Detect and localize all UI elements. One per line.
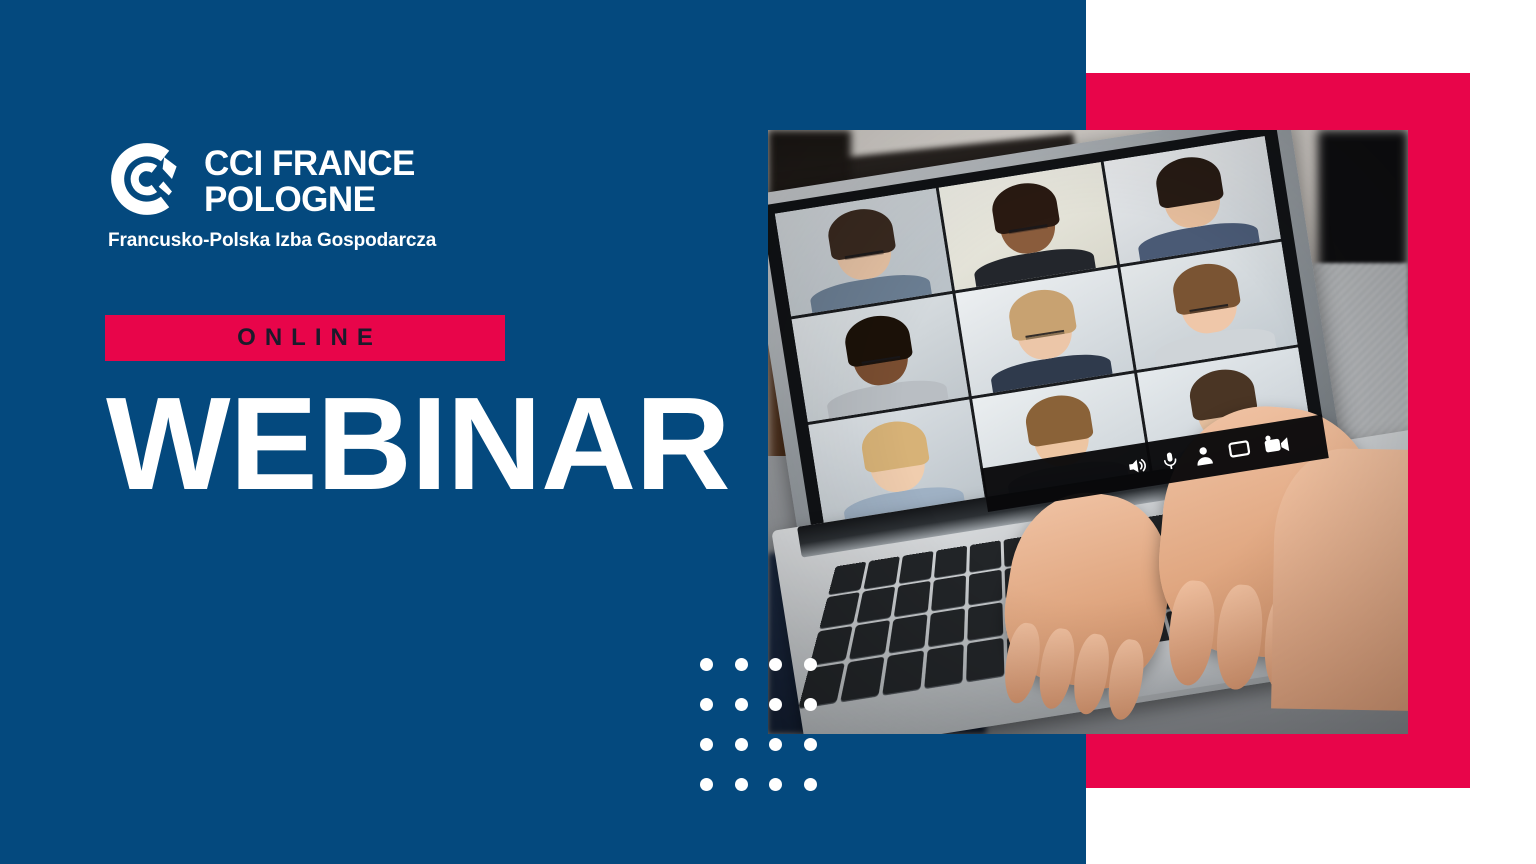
share-screen-monitor-icon[interactable] (1226, 438, 1253, 463)
keyboard-key (849, 620, 890, 660)
dot-cell (700, 738, 735, 778)
keyboard-key (966, 638, 1004, 681)
brand-name-line-2: POLOGNE (204, 182, 415, 218)
dot (804, 778, 817, 791)
dot (804, 738, 817, 751)
keyboard-key (968, 570, 1002, 605)
dot-cell (769, 778, 804, 818)
dot (804, 698, 817, 711)
dot (700, 738, 713, 751)
page-title: WEBINAR (106, 378, 730, 510)
dot-cell (804, 658, 839, 698)
dot-grid-pattern (700, 658, 838, 818)
cci-circular-mark-icon (108, 140, 186, 218)
keyboard-key (899, 551, 934, 583)
dot-cell (735, 698, 770, 738)
dot (735, 738, 748, 751)
brand-name-line-1: CCI FRANCE (204, 146, 415, 182)
dot (700, 698, 713, 711)
laptop (768, 130, 1408, 734)
photo-scene (768, 130, 1408, 734)
keyboard-key (856, 586, 895, 622)
speaker-volume-icon[interactable] (1124, 454, 1149, 479)
dot (769, 658, 782, 671)
dot-cell (700, 778, 735, 818)
dot (735, 698, 748, 711)
right-forearm (1270, 448, 1408, 712)
keyboard-key (924, 645, 964, 689)
dot-cell (735, 738, 770, 778)
dot (769, 738, 782, 751)
brand-logo: CCI FRANCE POLOGNE (108, 140, 415, 218)
keyboard-key (894, 581, 931, 616)
keyboard-key (969, 540, 1001, 572)
participant-person-icon[interactable] (1191, 443, 1216, 468)
keyboard-key (934, 546, 967, 578)
dot-cell (769, 738, 804, 778)
online-badge: ONLINE (105, 315, 505, 361)
dot (804, 658, 817, 671)
keyboard-key (840, 657, 884, 701)
dot-cell (769, 658, 804, 698)
keyboard-key (882, 651, 924, 695)
dot-cell (700, 698, 735, 738)
dot-cell (700, 658, 735, 698)
dot (735, 778, 748, 791)
keyboard-key (931, 575, 966, 610)
keyboard-key (863, 556, 899, 588)
webinar-photo (768, 130, 1408, 734)
online-badge-label: ONLINE (228, 324, 382, 352)
dot (700, 658, 713, 671)
dot (769, 698, 782, 711)
keyboard-key (928, 608, 965, 647)
keyboard-key (888, 614, 927, 653)
dot-cell (804, 738, 839, 778)
dot-cell (769, 698, 804, 738)
dot (769, 778, 782, 791)
poster-canvas: CCI FRANCE POLOGNE Francusko-Polska Izba… (0, 0, 1536, 864)
dot (735, 658, 748, 671)
dot-cell (804, 778, 839, 818)
microphone-icon[interactable] (1159, 449, 1182, 474)
brand-tagline: Francusko-Polska Izba Gospodarcza (108, 230, 436, 252)
dot-cell (735, 778, 770, 818)
brand-wordmark: CCI FRANCE POLOGNE (204, 140, 415, 217)
keyboard-key (967, 602, 1003, 641)
dot-cell (735, 658, 770, 698)
video-camera-icon[interactable] (1262, 432, 1291, 456)
dot-cell (804, 698, 839, 738)
dot (700, 778, 713, 791)
